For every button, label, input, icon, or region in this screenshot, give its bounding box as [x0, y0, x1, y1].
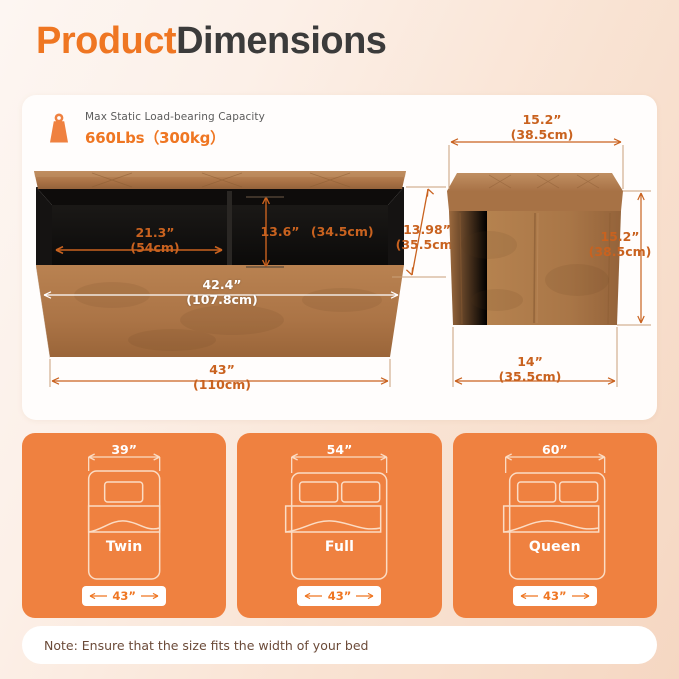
- bed-name-twin: Twin: [22, 539, 226, 555]
- dim-overall-width: 43” (110cm): [152, 363, 292, 393]
- ottoman-width-pill-queen: 43”: [513, 586, 597, 606]
- bed-size-cards: 39” Twin 43”: [22, 433, 657, 618]
- dim-closed-depth: 14” (35.5cm): [465, 355, 595, 385]
- ottoman-width-pill-full: 43”: [297, 586, 381, 606]
- ottoman-width-text-full: 43”: [328, 589, 352, 603]
- dim-closed-height: 15.2” (38.5cm): [575, 230, 665, 260]
- arrow-right-icon: [571, 592, 591, 600]
- dim-closed-top-width: 15.2” (38.5cm): [477, 113, 607, 143]
- dim-top-width: 42.4” (107.8cm): [152, 278, 292, 308]
- note-bar: Note: Ensure that the size fits the widt…: [22, 626, 657, 664]
- arrow-right-icon: [355, 592, 375, 600]
- ottoman-width-text-twin: 43”: [112, 589, 136, 603]
- arrow-left-icon: [519, 592, 539, 600]
- bed-card-full[interactable]: 54” Full 43”: [237, 433, 441, 618]
- arrow-left-icon: [303, 592, 323, 600]
- arrow-right-icon: [140, 592, 160, 600]
- note-text: Note: Ensure that the size fits the widt…: [44, 638, 368, 653]
- bed-card-queen[interactable]: 60” Queen 43”: [453, 433, 657, 618]
- arrow-left-icon: [88, 592, 108, 600]
- dimensions-panel: Max Static Load-bearing Capacity 660Lbs（…: [22, 95, 657, 420]
- ottoman-width-pill-twin: 43”: [82, 586, 166, 606]
- page-title: ProductDimensions: [36, 20, 386, 63]
- bed-name-full: Full: [237, 539, 441, 555]
- page-title-main: Dimensions: [176, 20, 386, 62]
- page-title-accent: Product: [36, 20, 176, 62]
- bed-card-twin[interactable]: 39” Twin 43”: [22, 433, 226, 618]
- bed-name-queen: Queen: [453, 539, 657, 555]
- ottoman-width-text-queen: 43”: [543, 589, 567, 603]
